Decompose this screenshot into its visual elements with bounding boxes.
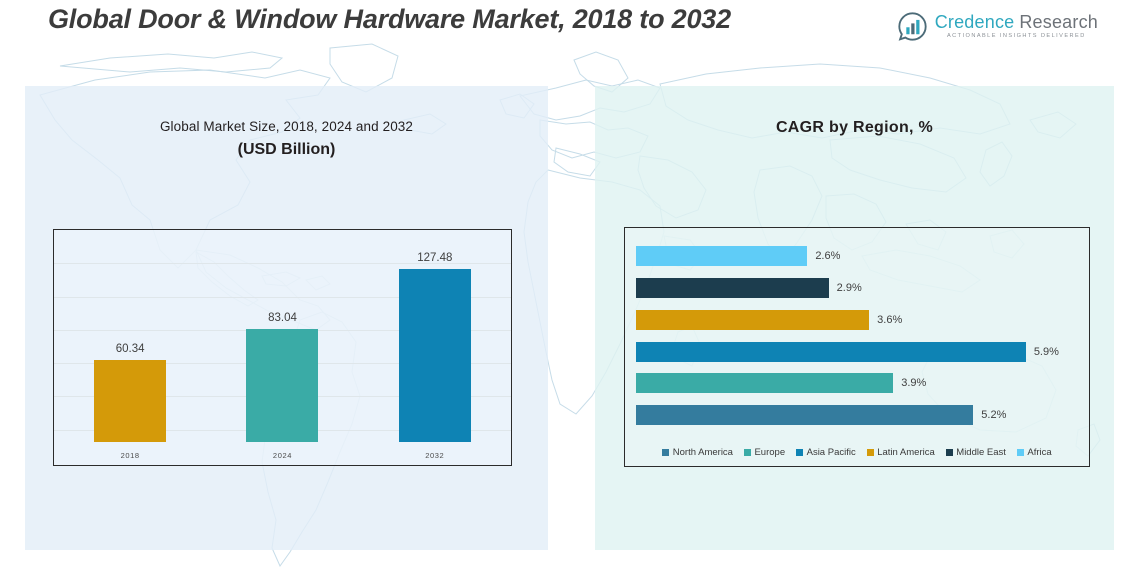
legend-item[interactable]: Asia Pacific bbox=[796, 447, 856, 458]
hbar-value-label: 2.6% bbox=[815, 250, 840, 262]
hbar-value-label: 3.9% bbox=[901, 377, 926, 389]
hbar-row: 2.6% bbox=[636, 246, 1081, 266]
column-axis-label: 2018 bbox=[54, 451, 206, 460]
brand-logo: Credence Research Actionable Insights De… bbox=[897, 11, 1098, 42]
hbar-row: 3.9% bbox=[636, 373, 1081, 393]
hbar[interactable] bbox=[636, 373, 893, 393]
cagr-legend: North AmericaEuropeAsia PacificLatin Ame… bbox=[625, 447, 1089, 458]
column-axis-label: 2024 bbox=[206, 451, 358, 460]
column-bar[interactable] bbox=[246, 329, 318, 442]
market-size-chart: 60.3483.04127.48 201820242032 bbox=[53, 229, 512, 466]
hbar-value-label: 5.2% bbox=[981, 409, 1006, 421]
hbar-row: 2.9% bbox=[636, 278, 1081, 298]
hbar-value-label: 3.6% bbox=[877, 314, 902, 326]
column-slot: 60.34 bbox=[54, 238, 206, 442]
hbar-value-label: 2.9% bbox=[837, 282, 862, 294]
legend-swatch bbox=[867, 449, 874, 456]
hbar-row: 5.2% bbox=[636, 405, 1081, 425]
bar-chart-circle-icon bbox=[897, 11, 928, 42]
left-chart-units: (USD Billion) bbox=[25, 141, 548, 159]
hbar-plot-area: 2.6%2.9%3.6%5.9%3.9%5.2% bbox=[636, 240, 1081, 431]
column-plot-area: 60.3483.04127.48 bbox=[54, 238, 511, 442]
legend-item[interactable]: Latin America bbox=[867, 447, 935, 458]
legend-item[interactable]: Africa bbox=[1017, 447, 1052, 458]
legend-label: Europe bbox=[754, 447, 785, 458]
legend-item[interactable]: Europe bbox=[744, 447, 785, 458]
right-chart-title: CAGR by Region, % bbox=[595, 119, 1114, 137]
column-bar[interactable] bbox=[94, 360, 166, 442]
legend-swatch bbox=[662, 449, 669, 456]
legend-swatch bbox=[744, 449, 751, 456]
cagr-chart: 2.6%2.9%3.6%5.9%3.9%5.2% North AmericaEu… bbox=[624, 227, 1090, 467]
brand-names: Credence Research bbox=[935, 13, 1098, 31]
brand-name-research: Research bbox=[1019, 13, 1098, 31]
column-bar[interactable] bbox=[399, 269, 471, 442]
legend-swatch bbox=[946, 449, 953, 456]
legend-label: North America bbox=[673, 447, 733, 458]
legend-swatch bbox=[796, 449, 803, 456]
hbar[interactable] bbox=[636, 278, 829, 298]
hbar-value-label: 5.9% bbox=[1034, 346, 1059, 358]
hbar[interactable] bbox=[636, 246, 807, 266]
column-value-label: 60.34 bbox=[116, 343, 145, 355]
hbar-row: 3.6% bbox=[636, 310, 1081, 330]
legend-label: Middle East bbox=[956, 447, 1006, 458]
column-value-label: 127.48 bbox=[417, 252, 452, 264]
column-slot: 83.04 bbox=[206, 238, 358, 442]
legend-item[interactable]: North America bbox=[662, 447, 733, 458]
column-axis-label: 2032 bbox=[359, 451, 511, 460]
brand-text: Credence Research Actionable Insights De… bbox=[935, 13, 1098, 40]
column-slot: 127.48 bbox=[359, 238, 511, 442]
legend-label: Africa bbox=[1027, 447, 1051, 458]
column-value-label: 83.04 bbox=[268, 312, 297, 324]
legend-item[interactable]: Middle East bbox=[946, 447, 1006, 458]
legend-swatch bbox=[1017, 449, 1024, 456]
brand-tagline: Actionable Insights Delivered bbox=[935, 34, 1098, 40]
left-chart-subtitle: Global Market Size, 2018, 2024 and 2032 bbox=[25, 119, 548, 134]
hbar-row: 5.9% bbox=[636, 342, 1081, 362]
header-bar: Global Door & Window Hardware Market, 20… bbox=[0, 0, 1140, 56]
legend-label: Latin America bbox=[877, 447, 935, 458]
hbar[interactable] bbox=[636, 342, 1026, 362]
legend-label: Asia Pacific bbox=[807, 447, 856, 458]
column-category-axis: 201820242032 bbox=[54, 442, 511, 465]
hbar[interactable] bbox=[636, 310, 869, 330]
hbar[interactable] bbox=[636, 405, 973, 425]
page-title: Global Door & Window Hardware Market, 20… bbox=[48, 4, 731, 35]
brand-name-credence: Credence bbox=[935, 13, 1015, 31]
